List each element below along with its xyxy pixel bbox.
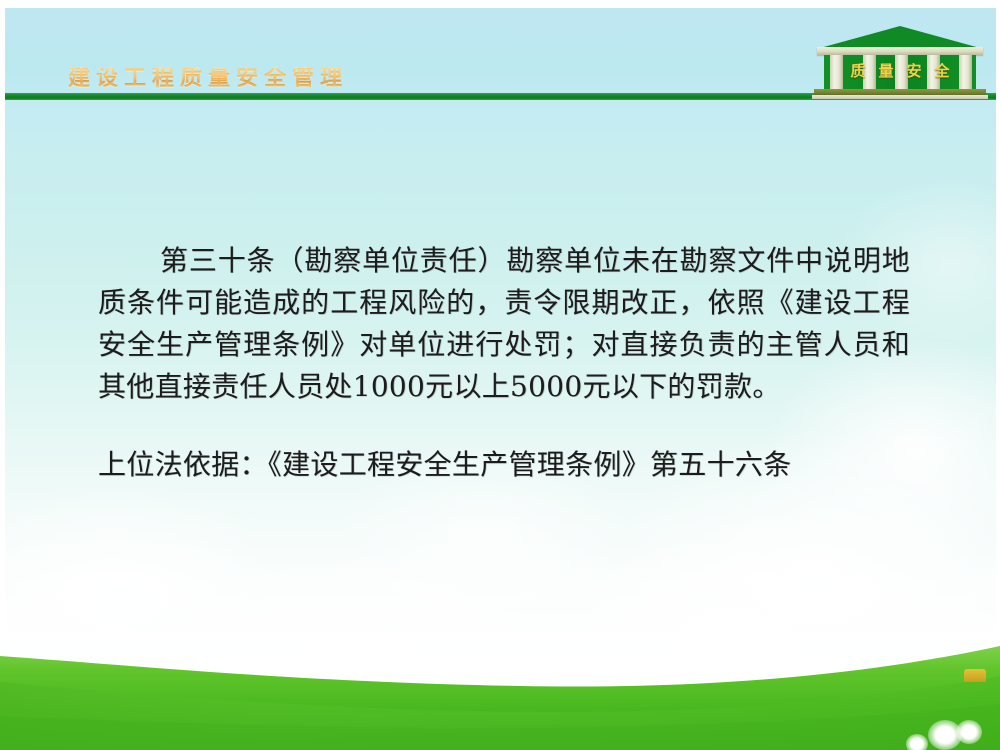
grass-hill-shape <box>0 620 1000 750</box>
roof-pediment-icon <box>820 26 980 48</box>
cornice-icon <box>817 47 983 55</box>
header-title: 建设工程质量安全管理 <box>68 68 348 90</box>
body-paragraph-legal-basis: 上位法依据：《建设工程安全生产管理条例》第五十六条 <box>98 444 910 486</box>
building-plinth-icon <box>812 95 988 99</box>
grass-field-decoration <box>0 620 1000 750</box>
slide-body: 第三十条（勘察单位责任）勘察单位未在勘察文件中说明地质条件可能造成的工程风险的，… <box>98 240 910 486</box>
building-emblem-icon: 质量安全 <box>812 26 988 98</box>
presentation-slide: 建设工程质量安全管理 质量安全 第三十条（勘察单位责任）勘察单位未在勘察文件中说… <box>0 0 1000 750</box>
body-paragraph-article: 第三十条（勘察单位责任）勘察单位未在勘察文件中说明地质条件可能造成的工程风险的，… <box>98 240 910 408</box>
flower-decoration <box>956 720 982 744</box>
emblem-label: 质量安全 <box>826 64 974 79</box>
flower-decoration <box>906 734 928 750</box>
seed-pod-decoration <box>964 669 986 682</box>
